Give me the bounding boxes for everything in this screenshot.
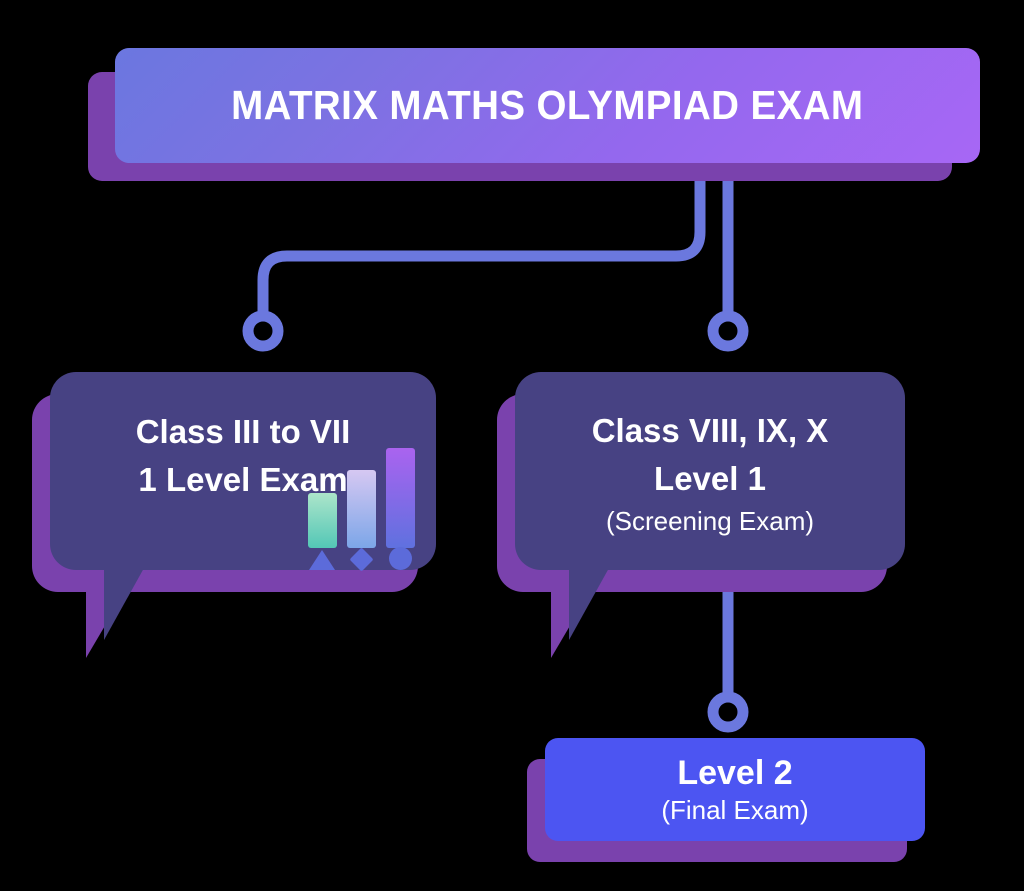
right-branch-line-2: Level 1 [654, 455, 766, 503]
left-branch-tail [104, 568, 144, 640]
level2-subtitle: (Final Exam) [661, 793, 808, 827]
left-branch-line-2: 1 Level Exam [138, 456, 347, 504]
title-banner: MATRIX MATHS OLYMPIAD EXAM [115, 48, 980, 163]
chart-marker-triangle-icon [309, 550, 335, 570]
chart-marker-diamond-icon [349, 547, 373, 571]
connector-root-to-left [263, 160, 700, 312]
connector-ring-level2 [713, 697, 743, 727]
node-level2[interactable]: Level 2 (Final Exam) [545, 738, 925, 841]
right-branch-text: Class VIII, IX, X Level 1 (Screening Exa… [515, 400, 905, 545]
chart-marker-circle-icon [389, 547, 412, 570]
left-branch-line-1: Class III to VII [136, 408, 351, 456]
level2-title: Level 2 [677, 753, 792, 793]
node-left-branch[interactable]: Class III to VII 1 Level Exam [32, 372, 436, 592]
connector-ring-right [713, 316, 743, 346]
right-branch-subtitle: (Screening Exam) [606, 503, 814, 539]
right-branch-line-1: Class VIII, IX, X [592, 407, 829, 455]
node-right-branch[interactable]: Class VIII, IX, X Level 1 (Screening Exa… [497, 372, 905, 592]
right-branch-tail [569, 568, 609, 640]
diagram-canvas: MATRIX MATHS OLYMPIAD EXAM Class III to … [0, 0, 1024, 891]
connector-ring-left [248, 316, 278, 346]
page-title: MATRIX MATHS OLYMPIAD EXAM [231, 82, 863, 129]
left-branch-text: Class III to VII 1 Level Exam [50, 406, 436, 506]
